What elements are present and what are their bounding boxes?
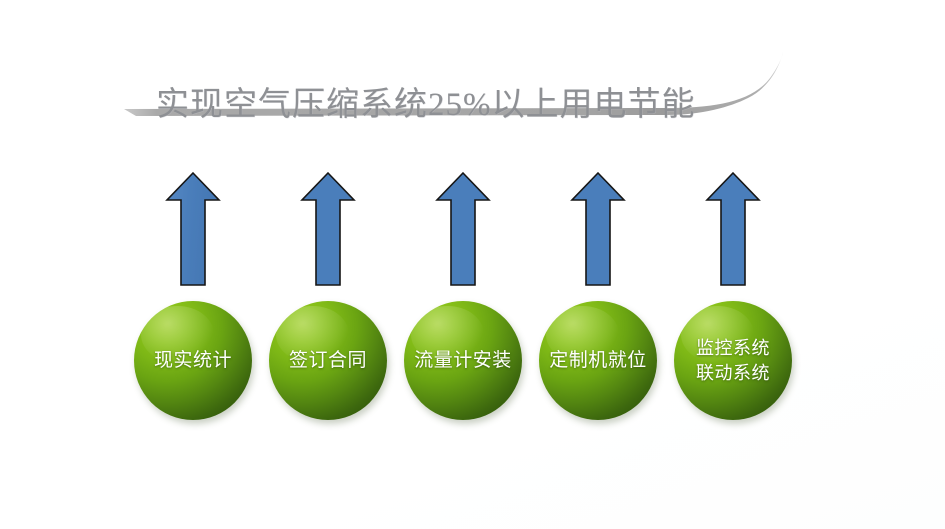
step-label-3: 流量计安装 [390,301,536,420]
step-node-5[interactable]: 监控系统 联动系统 [674,301,792,420]
step-label-line: 监控系统 [696,336,770,361]
up-arrow-2 [300,170,356,288]
step-label-line: 联动系统 [696,361,770,386]
arrow-up-icon [300,170,356,288]
step-label-1: 现实统计 [120,301,266,420]
step-label-line: 定制机就位 [549,348,647,373]
step-label-5: 监控系统 联动系统 [660,301,806,420]
step-label-2: 签订合同 [255,301,401,420]
step-label-line: 签订合同 [289,348,367,373]
title-banner: 实现空气压缩系统25%以上用电节能 [118,36,798,148]
up-arrow-3 [435,170,491,288]
arrow-up-icon [435,170,491,288]
step-node-1[interactable]: 现实统计 [134,301,252,420]
step-label-line: 现实统计 [154,348,232,373]
step-node-2[interactable]: 签订合同 [269,301,387,420]
step-label-line: 流量计安装 [414,348,512,373]
arrow-up-icon [705,170,761,288]
step-label-4: 定制机就位 [525,301,671,420]
page-title: 实现空气压缩系统25%以上用电节能 [156,84,756,126]
step-node-3[interactable]: 流量计安装 [404,301,522,420]
up-arrow-1 [165,170,221,288]
up-arrow-4 [570,170,626,288]
arrow-up-icon [165,170,221,288]
step-node-4[interactable]: 定制机就位 [539,301,657,420]
arrow-up-icon [570,170,626,288]
slide-canvas: 实现空气压缩系统25%以上用电节能 [0,0,945,529]
up-arrow-5 [705,170,761,288]
